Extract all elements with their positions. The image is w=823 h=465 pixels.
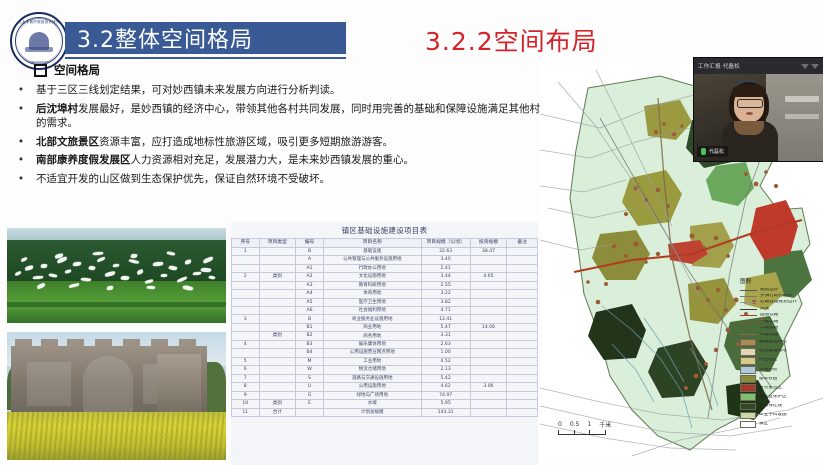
- legend-line-item: 乡镇行政村边界: [740, 294, 820, 299]
- section-heading-label: 空间格局: [54, 62, 100, 78]
- table-row: A4体育用地3.22: [232, 290, 538, 298]
- table-cell: [470, 306, 507, 314]
- legend-label: 镇区: [759, 422, 768, 427]
- table-cell: [470, 400, 507, 408]
- scale-tick-label: 0.5: [570, 421, 580, 428]
- legend-label: 三级公路: [760, 333, 778, 338]
- table-column-header: 投资规模: [470, 239, 507, 248]
- egret-bird: [131, 254, 137, 258]
- legend-label: 重点整治区: [759, 386, 782, 391]
- bullet-text: 基于三区三线划定结果，可对妙西镇未来发展方向进行分析判读。: [36, 84, 559, 98]
- legend-line-entries: 规划边界乡镇行政村边界近期建设规划边界高速国道公路一级公路二级公路三级公路: [740, 288, 820, 338]
- table-cell: [507, 349, 538, 357]
- table-cell: 5.47: [421, 323, 470, 331]
- table-column-header: 项目类型: [259, 239, 296, 248]
- screenshot-root: 浙江大学城市规划设计研究院 UNIVERSITY 3.2整体空间格局 3.2.2…: [0, 0, 823, 465]
- legend-line-item: 三级公路: [740, 333, 820, 338]
- legend-line-sample: [740, 334, 757, 335]
- presentation-slide: 浙江大学城市规划设计研究院 UNIVERSITY 3.2整体空间格局 3.2.2…: [0, 0, 823, 465]
- table-row: 5M工业用地4.52: [232, 357, 538, 365]
- table-cell: [232, 281, 260, 289]
- table-cell: 合计: [259, 408, 296, 416]
- legend-label: 生态保红线: [759, 404, 782, 409]
- bullet-text: 北部文旅景区资源丰富，应打造成地标性旅游区域，吸引更多短期旅游游客。: [36, 136, 559, 150]
- square-bullet-icon: [34, 64, 47, 77]
- table-row: 类别B2商务用地3.31: [232, 332, 538, 340]
- table-cell: [507, 391, 538, 399]
- table-cell: [259, 264, 296, 272]
- table-cell: [507, 290, 538, 298]
- table-cell: 3.82: [421, 298, 470, 306]
- table-cell: 商业用地: [323, 323, 421, 331]
- participant-name: 代磊松: [709, 148, 724, 155]
- table-grid: 序号项目类型编号项目名称项目规模（公顷）投资规模备注 1B基础设施32.6338…: [231, 238, 538, 417]
- table-cell: B1: [296, 323, 324, 331]
- presenter-fringe: [732, 84, 766, 97]
- table-cell: [232, 349, 260, 357]
- table-cell: A: [296, 256, 324, 264]
- table-cell: [259, 315, 296, 323]
- section-red-title: 3.2.2空间布局: [425, 22, 598, 58]
- bullet-dot-icon: •: [14, 84, 28, 98]
- bullet-text: 后沈埠村发展最好，是妙西镇的经济中心，带领其他各村共同发展，同时用完善的基础和保…: [36, 103, 559, 131]
- table-cell: 38.47: [470, 247, 507, 255]
- section-heading-row: 空间格局: [34, 62, 559, 78]
- table-cell: [259, 306, 296, 314]
- table-cell: 计划总规模: [323, 408, 421, 416]
- table-row: 10类别E水域5.95: [232, 400, 538, 408]
- scale-tick-label: 0: [558, 421, 562, 428]
- bullet-item: •不适宜开发的山区做到生态保护优先，保证自然环境不受破坏。: [14, 173, 559, 187]
- table-column-header: 项目规模（公顷）: [421, 239, 470, 248]
- legend-label: 国道公路: [760, 313, 778, 318]
- table-cell: [259, 247, 296, 255]
- legend-color-swatch: [740, 357, 756, 365]
- table-cell: [470, 256, 507, 264]
- table-cell: [507, 281, 538, 289]
- legend-swatch-entries: 城镇建设用地村庄建设用地传色地区水域用地基本农田重点整治区般农业保护区生态保红线…: [740, 339, 820, 428]
- chevron-down-icon[interactable]: [801, 64, 809, 69]
- table-cell: [507, 256, 538, 264]
- egret-bird: [193, 272, 201, 275]
- bullet-item: •南部康养度假发展区人力资源相对充足，发展潜力大，是未来妙西镇发展的重心。: [14, 154, 559, 168]
- table-cell: 公共管理与公共服务设施用地: [323, 256, 421, 264]
- table-cell: [232, 264, 260, 272]
- table-cell: 商务用地: [323, 332, 421, 340]
- table-cell: [507, 315, 538, 323]
- bullet-emphasis: 南部康养度假发展区: [36, 154, 131, 166]
- table-cell: [232, 290, 260, 298]
- egret-bird: [93, 252, 103, 255]
- presenter-mouth: [746, 112, 753, 115]
- table-cell: [507, 264, 538, 272]
- seal-top-text: 浙江大学城市规划设计研究院: [12, 19, 66, 24]
- table-cell: [470, 298, 507, 306]
- legend-swatch-item: 镇区: [740, 421, 820, 429]
- table-cell: 3.06: [470, 383, 507, 391]
- legend-label: 城镇建设用地: [759, 340, 787, 345]
- table-cell: [232, 332, 260, 340]
- table-cell: [507, 298, 538, 306]
- table-cell: 5.42: [421, 374, 470, 382]
- legend-label: 水域用地: [759, 368, 777, 373]
- egret-field-photo: [7, 228, 226, 323]
- table-row: 3B商业服务业设施用地12.41: [232, 315, 538, 323]
- table-cell: [259, 383, 296, 391]
- legend-line-sample: [740, 309, 757, 310]
- table-cell: [259, 323, 296, 331]
- table-cell: 10: [232, 400, 260, 408]
- table-cell: [470, 349, 507, 357]
- legend-label: 基本农田: [759, 377, 777, 382]
- table-cell: [507, 357, 538, 365]
- bullet-emphasis: 后沈埠村: [36, 103, 78, 115]
- table-cell: 文化设施用地: [323, 273, 421, 281]
- table-cell: 2.41: [421, 264, 470, 272]
- bullet-item: •后沈埠村发展最好，是妙西镇的经济中心，带领其他各村共同发展，同时用完善的基础和…: [14, 103, 559, 131]
- bullet-dot-icon: •: [14, 173, 28, 187]
- table-cell: 体育用地: [323, 290, 421, 298]
- table-cell: W: [296, 366, 324, 374]
- bullet-item: •北部文旅景区资源丰富，应打造成地标性旅游区域，吸引更多短期旅游游客。: [14, 136, 559, 150]
- photo-field-strip: [7, 302, 226, 307]
- table-cell: [232, 256, 260, 264]
- table-cell: [259, 298, 296, 306]
- table-cell: 2.63: [421, 340, 470, 348]
- table-body: 1B基础设施32.6338.47A公共管理与公共服务设施用地3.40A1行政办公…: [232, 247, 538, 416]
- table-cell: [507, 366, 538, 374]
- table-cell: [470, 290, 507, 298]
- stone-ruins-photo: [7, 332, 226, 460]
- table-cell: B: [296, 247, 324, 255]
- table-cell: U: [296, 383, 324, 391]
- table-cell: B3: [296, 340, 324, 348]
- legend-line-sample: [740, 322, 757, 323]
- table-cell: A5: [296, 298, 324, 306]
- egret-bird: [73, 262, 81, 266]
- table-row: B4公用设施营业网点用地1.00: [232, 349, 538, 357]
- legend-label: 村庄建设用地: [759, 349, 787, 354]
- slide-body: 空间格局 •基于三区三线划定结果，可对妙西镇未来发展方向进行分析判读。•后沈埠村…: [14, 62, 559, 192]
- legend-color-swatch: [740, 403, 756, 411]
- legend-color-swatch: [740, 412, 756, 420]
- scale-bar-ticks: [558, 430, 606, 435]
- table-cell: 行政办公用地: [323, 264, 421, 272]
- legend-swatch-item: 城镇建设用地: [740, 339, 820, 347]
- table-cell: 社会福利用地: [323, 306, 421, 314]
- table-cell: [259, 256, 296, 264]
- table-cell: 7: [232, 374, 260, 382]
- table-cell: [507, 247, 538, 255]
- title-underline: [65, 57, 346, 59]
- video-bg-shelf: [785, 96, 819, 102]
- table-cell: 12.41: [421, 315, 470, 323]
- legend-line-item: 规划边界: [740, 288, 820, 293]
- legend-line-item: 二级公路: [740, 326, 820, 331]
- table-cell: 32.63: [421, 247, 470, 255]
- table-column-header: 序号: [232, 239, 260, 248]
- table-row: A3教育科研用地2.55: [232, 281, 538, 289]
- table-cell: [470, 332, 507, 340]
- video-bg-shelf-2: [785, 114, 819, 119]
- table-cell: 4: [232, 340, 260, 348]
- legend-line-item: 高速: [740, 307, 820, 312]
- video-window-title: 工作汇报·代磊松: [698, 62, 740, 70]
- legend-swatch-item: 般农业保护区: [740, 393, 820, 401]
- table-row: A5医疗卫生用地3.82: [232, 298, 538, 306]
- table-row: 6W物流仓储用地2.13: [232, 366, 538, 374]
- table-cell: [232, 323, 260, 331]
- table-row: A1行政办公用地2.41: [232, 264, 538, 272]
- map-legend: 图例 规划边界乡镇行政村边界近期建设规划边界高速国道公路一级公路二级公路三级公路…: [740, 280, 820, 430]
- table-cell: 5: [232, 357, 260, 365]
- table-cell: 11: [232, 408, 260, 416]
- egret-bird: [113, 264, 119, 267]
- table-cell: 3.44: [421, 273, 470, 281]
- egret-bird: [41, 264, 47, 268]
- table-cell: [296, 408, 324, 416]
- bullet-dot-icon: •: [14, 103, 28, 131]
- table-row: A6社会福利用地4.71: [232, 306, 538, 314]
- table-cell: 3.31: [421, 332, 470, 340]
- table-cell: B2: [296, 332, 324, 340]
- table-cell: [470, 264, 507, 272]
- legend-color-swatch: [740, 384, 756, 392]
- table-cell: [259, 349, 296, 357]
- table-cell: 4.65: [470, 273, 507, 281]
- legend-swatch-item: 村庄建设用地: [740, 348, 820, 356]
- table-cell: [470, 374, 507, 382]
- table-row: 7S道路与交通设施用地5.42: [232, 374, 538, 382]
- table-cell: [470, 357, 507, 365]
- legend-line-item: 国道公路: [740, 313, 820, 318]
- table-cell: 3: [232, 315, 260, 323]
- table-title: 镇区基础设施建设项目表: [231, 222, 538, 238]
- legend-line-sample: [740, 328, 757, 329]
- table-row: 8U公用设施用地4.623.06: [232, 383, 538, 391]
- legend-label: 一级公路: [760, 320, 778, 325]
- legend-color-swatch: [740, 366, 756, 374]
- table-cell: 4.71: [421, 306, 470, 314]
- table-cell: [259, 366, 296, 374]
- legend-line-item: 近期建设规划边界: [740, 300, 820, 305]
- table-cell: [507, 383, 538, 391]
- table-cell: 143.31: [421, 408, 470, 416]
- seal-bell-base: [25, 47, 53, 52]
- table-cell: [507, 408, 538, 416]
- table-cell: [507, 323, 538, 331]
- table-column-header: 项目名称: [323, 239, 421, 248]
- legend-swatch-item: 水域用地: [740, 366, 820, 374]
- table-cell: [259, 340, 296, 348]
- table-cell: 物流仓储用地: [323, 366, 421, 374]
- table-cell: [470, 281, 507, 289]
- bullet-dot-icon: •: [14, 136, 28, 150]
- table-cell: [507, 273, 538, 281]
- legend-label: 近期建设规划边界: [760, 300, 797, 305]
- table-cell: [507, 332, 538, 340]
- scale-tick-label: 1: [587, 421, 591, 428]
- table-cell: 基础设施: [323, 247, 421, 255]
- legend-swatch-item: 基本农田: [740, 375, 820, 383]
- table-cell: B: [296, 315, 324, 323]
- table-cell: E: [296, 400, 324, 408]
- table-cell: 1: [232, 247, 260, 255]
- legend-color-swatch: [740, 393, 756, 401]
- table-cell: [470, 340, 507, 348]
- legend-label: 高速: [760, 307, 769, 312]
- table-cell: A6: [296, 306, 324, 314]
- legend-label: 二级公路: [760, 326, 778, 331]
- legend-line-sample: [740, 296, 757, 297]
- table-cell: 2.55: [421, 281, 470, 289]
- scale-labels: 00.51千米: [558, 420, 611, 429]
- table-cell: [507, 400, 538, 408]
- table-cell: A3: [296, 281, 324, 289]
- scale-unit-label: 千米: [599, 420, 611, 429]
- table-cell: 4.52: [421, 357, 470, 365]
- table-row: A公共管理与公共服务设施用地3.40: [232, 256, 538, 264]
- legend-line-sample: [740, 290, 757, 291]
- legend-label: 工业学科设施: [759, 413, 787, 418]
- slide-title-bar: 3.2整体空间格局: [65, 22, 346, 54]
- presenter-scarf: [734, 121, 764, 135]
- bullet-dot-icon: •: [14, 154, 28, 168]
- table-cell: 工业用地: [323, 357, 421, 365]
- chevron-down-icon-2[interactable]: [811, 64, 819, 69]
- video-feed[interactable]: 代磊松: [694, 74, 823, 161]
- legend-label: 传色地区: [759, 358, 777, 363]
- legend-color-swatch: [740, 339, 756, 347]
- slide-title: 3.2整体空间格局: [65, 22, 253, 54]
- table-cell: [259, 290, 296, 298]
- table-cell: [470, 391, 507, 399]
- legend-swatch-item: 生态保红线: [740, 403, 820, 411]
- map-scale-bar: 00.51千米: [558, 420, 611, 435]
- table-cell: M: [296, 357, 324, 365]
- table-row: 1B基础设施32.6338.47: [232, 247, 538, 255]
- legend-line-item: 一级公路: [740, 320, 820, 325]
- table-cell: 道路与交通设施用地: [323, 374, 421, 382]
- table-cell: [259, 357, 296, 365]
- table-cell: 8: [232, 383, 260, 391]
- bullet-text: 不适宜开发的山区做到生态保护优先，保证自然环境不受破坏。: [36, 173, 559, 187]
- legend-swatch-item: 重点整治区: [740, 384, 820, 392]
- table-row: 2类别A2文化设施用地3.444.65: [232, 273, 538, 281]
- legend-swatch-item: 工业学科设施: [740, 412, 820, 420]
- table-cell: [259, 281, 296, 289]
- legend-swatch-item: 传色地区: [740, 357, 820, 365]
- table-column-header: 备注: [507, 239, 538, 248]
- bullet-text: 南部康养度假发展区人力资源相对充足，发展潜力大，是未来妙西镇发展的重心。: [36, 154, 559, 168]
- table-cell: 3.40: [421, 256, 470, 264]
- legend-title: 图例: [740, 280, 820, 286]
- table-cell: 公用设施用地: [323, 383, 421, 391]
- table-cell: 类别: [259, 273, 296, 281]
- legend-color-swatch: [740, 421, 756, 429]
- ruins-flower-texture: [7, 412, 226, 460]
- table-cell: [232, 298, 260, 306]
- table-cell: 公用设施营业网点用地: [323, 349, 421, 357]
- legend-line-sample: [740, 302, 757, 303]
- table-cell: 5.95: [421, 400, 470, 408]
- table-column-header: 编号: [296, 239, 324, 248]
- table-cell: [470, 408, 507, 416]
- ruins-tower-right: [157, 354, 201, 416]
- table-cell: 绿地与广场用地: [323, 391, 421, 399]
- video-window-header[interactable]: 工作汇报·代磊松: [694, 58, 823, 74]
- table-cell: 医疗卫生用地: [323, 298, 421, 306]
- table-cell: 娱乐康体用地: [323, 340, 421, 348]
- table-header-row: 序号项目类型编号项目名称项目规模（公顷）投资规模备注: [232, 239, 538, 248]
- table-cell: 2.13: [421, 366, 470, 374]
- table-row: 9G绿地与广场用地74.97: [232, 391, 538, 399]
- mic-icon[interactable]: [701, 148, 706, 155]
- table-cell: A2: [296, 273, 324, 281]
- table-cell: 4.62: [421, 383, 470, 391]
- legend-color-swatch: [740, 375, 756, 383]
- legend-color-swatch: [740, 348, 756, 356]
- table-cell: 教育科研用地: [323, 281, 421, 289]
- table-cell: [259, 391, 296, 399]
- legend-label: 乡镇行政村边界: [760, 294, 792, 299]
- table-cell: 74.97: [421, 391, 470, 399]
- table-cell: G: [296, 391, 324, 399]
- table-cell: A4: [296, 290, 324, 298]
- video-call-window[interactable]: 工作汇报·代磊松 代磊松: [693, 57, 823, 162]
- table-row: B1商业用地5.4714.06: [232, 323, 538, 331]
- table-cell: 9: [232, 391, 260, 399]
- table-cell: A1: [296, 264, 324, 272]
- bullet-item: •基于三区三线划定结果，可对妙西镇未来发展方向进行分析判读。: [14, 84, 559, 98]
- participant-name-badge: 代磊松: [697, 146, 728, 157]
- table-cell: 1.00: [421, 349, 470, 357]
- table-cell: 类别: [259, 332, 296, 340]
- bullet-list: •基于三区三线划定结果，可对妙西镇未来发展方向进行分析判读。•后沈埠村发展最好，…: [14, 84, 559, 187]
- table-cell: 水域: [323, 400, 421, 408]
- table-cell: [507, 340, 538, 348]
- table-cell: 3.22: [421, 290, 470, 298]
- table-cell: [259, 374, 296, 382]
- table-cell: [470, 366, 507, 374]
- legend-label: 规划边界: [760, 288, 778, 293]
- table-cell: B4: [296, 349, 324, 357]
- table-cell: 14.06: [470, 323, 507, 331]
- table-cell: S: [296, 374, 324, 382]
- table-row: 4B3娱乐康体用地2.63: [232, 340, 538, 348]
- legend-line-sample: [740, 315, 757, 316]
- table-cell: [507, 306, 538, 314]
- table-cell: 商业服务业设施用地: [323, 315, 421, 323]
- table-cell: [470, 315, 507, 323]
- facility-plan-table: 镇区基础设施建设项目表 序号项目类型编号项目名称项目规模（公顷）投资规模备注 1…: [231, 222, 538, 465]
- video-header-icons[interactable]: [801, 64, 819, 69]
- table-cell: [232, 306, 260, 314]
- table-row: 11合计计划总规模143.31: [232, 408, 538, 416]
- presenter-glasses: [737, 99, 763, 108]
- table-cell: 2: [232, 273, 260, 281]
- egret-bird: [107, 286, 113, 290]
- table-cell: 类别: [259, 400, 296, 408]
- legend-label: 般农业保护区: [759, 395, 787, 400]
- bullet-emphasis: 北部文旅景区: [36, 136, 99, 148]
- egret-bird: [33, 276, 43, 279]
- egret-bird: [153, 262, 163, 266]
- table-cell: 6: [232, 366, 260, 374]
- table-cell: [507, 374, 538, 382]
